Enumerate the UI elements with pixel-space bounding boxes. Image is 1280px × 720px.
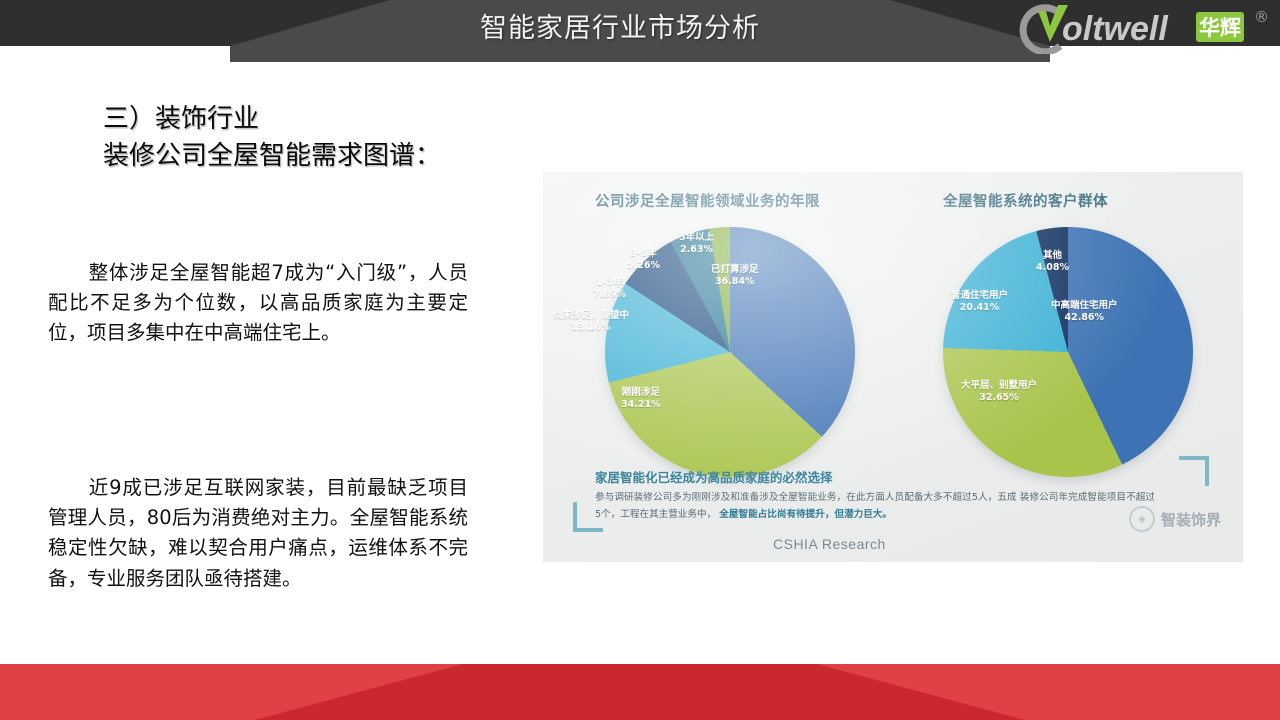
watermark-text: 智装饰界 [1161,509,1221,530]
right-pie-title: 全屋智能系统的客户群体 [943,190,1108,211]
left-pie-val-0: 36.84% [715,276,755,287]
slide-footer [0,664,1280,720]
left-pie-cat-1: 刚刚涉足 [622,387,660,398]
left-pie-title: 公司涉足全屋智能领域业务的年限 [595,190,820,211]
right-pie-cat-0: 中高端住宅用户 [1051,300,1118,311]
left-pie-label-0: 已打算涉足 36.84% [711,264,759,288]
chart-source: CSHIA Research [773,536,886,552]
left-pie-val-4: 5.26% [627,260,660,271]
heading-line-1: 三）装饰行业 [103,101,533,138]
right-pie-cat-3: 其他 [1043,250,1062,261]
voltwell-logo: oltwell 华辉 ® [1000,2,1272,54]
chart-note-body: 参与调研装修公司多为刚刚涉及和准备涉及全屋智能业务，在此方面人员配备大多不超过5… [595,490,1155,524]
right-pie-label-1: 大平层、别墅用户 32.65% [961,380,1037,404]
left-pie-label-3: 1-3年 7.89% [593,277,626,301]
left-pie-cat-5: 5年以上 [679,232,714,243]
left-pie-cat-0: 已打算涉足 [711,264,759,275]
chart-image-panel: 公司涉足全屋智能领域业务的年限 全屋智能系统的客户群体 已打算涉足 36.84%… [543,172,1243,562]
decor-bracket-top-right [1179,456,1209,486]
registered-icon: ® [1254,8,1269,26]
logo-wordmark: oltwell [1062,10,1169,48]
left-pie-val-5: 2.63% [680,244,713,255]
slide: 智能家居行业市场分析 oltwell 华辉 ® 三）装饰行业 装修公司全屋智能需… [0,0,1280,720]
body-paragraph-2: 近9成已涉足互联网家装，目前最缺乏项目管理人员，80后为消费绝对主力。全屋智能系… [48,473,468,594]
slide-header: 智能家居行业市场分析 oltwell 华辉 ® [0,0,1280,64]
left-pie-label-2: 尚未涉足，观望中 13.16% [553,310,629,334]
left-pie-cat-2: 尚未涉足，观望中 [553,310,629,321]
section-heading: 三）装饰行业 装修公司全屋智能需求图谱： [103,101,533,175]
right-pie-label-2: 普通住宅用户 20.41% [951,290,1008,314]
left-pie-label-4: 3-5年 5.26% [627,248,660,272]
right-pie-cat-1: 大平层、别墅用户 [961,380,1037,391]
right-pie-label-3: 其他 4.08% [1036,250,1069,274]
body-paragraph-1: 整体涉足全屋智能超7成为“入门级”，人员配比不足多为个位数，以高品质家庭为主要定… [48,258,468,349]
watermark-logo-icon: ◈ [1129,506,1155,532]
right-pie-val-3: 4.08% [1036,262,1069,273]
right-pie-val-2: 20.41% [960,302,1000,313]
left-pie-label-1: 刚刚涉足 34.21% [621,387,661,411]
chart-note-heading: 家居智能化已经成为高品质家庭的必然选择 [595,467,833,486]
heading-line-2: 装修公司全屋智能需求图谱： [103,138,533,175]
logo-badge-text: 华辉 [1199,16,1241,40]
right-pie-label-0: 中高端住宅用户 42.86% [1051,300,1118,324]
chart-watermark: ◈ 智装饰界 [1129,506,1221,532]
chart-note-body-1: 参与调研装修公司多为刚刚涉及和准备涉及全屋智能业务，在此方面人员配备大多不超过5… [595,492,1017,503]
right-pie-val-0: 42.86% [1064,312,1104,323]
left-pie-val-1: 34.21% [621,399,661,410]
left-pie-val-2: 13.16% [571,322,611,333]
right-pie-val-1: 32.65% [979,392,1019,403]
right-pie-cat-2: 普通住宅用户 [951,290,1008,301]
left-pie-cat-3: 1-3年 [596,277,623,288]
left-pie-label-5: 5年以上 2.63% [679,232,714,256]
left-pie-cat-4: 3-5年 [630,248,657,259]
left-pie-val-3: 7.89% [593,289,626,300]
logo-graphic: oltwell 华辉 ® [1000,2,1272,54]
chart-note-highlight: 全屋智能占比尚有待提升，但潜力巨大。 [719,509,892,520]
